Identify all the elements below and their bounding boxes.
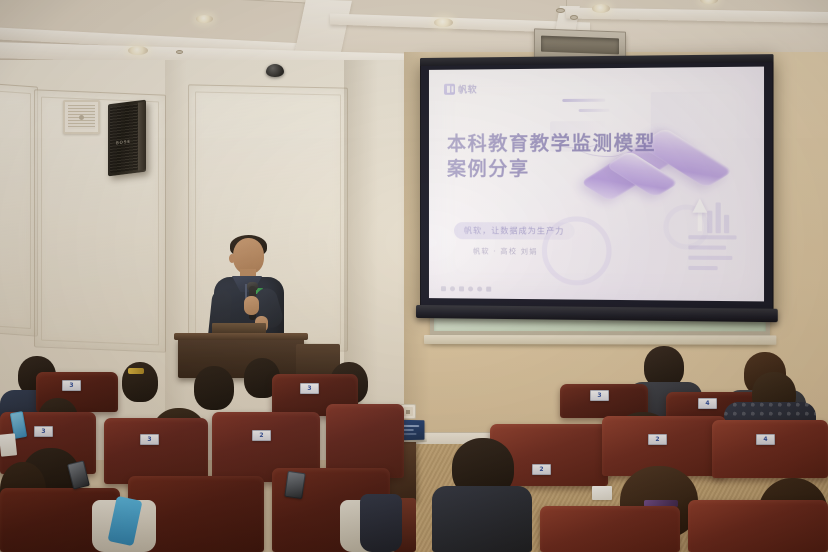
footer-icon — [441, 286, 446, 291]
seat[interactable] — [326, 404, 404, 478]
seat-number-plate: 2 — [532, 464, 551, 475]
seat[interactable] — [688, 500, 828, 552]
podium-top-surface — [174, 333, 308, 340]
lecture-hall-photo: BOSE — [0, 0, 828, 552]
smartphone[interactable] — [284, 471, 305, 499]
footer-icon — [459, 286, 464, 291]
presentation-slide: 帆软 本科教育教学监测模型 案例分享 帆软，让数据成为生产力 帆软 · 高校 刘… — [429, 67, 764, 302]
slide-brand-logo: 帆软 — [444, 82, 477, 95]
smoke-detector-icon — [176, 50, 183, 54]
downlight-icon — [196, 15, 213, 23]
footer-icon — [486, 287, 491, 292]
seat-number-plate: 3 — [140, 434, 159, 445]
seat-number-plate: 2 — [648, 434, 667, 445]
bose-wall-speaker: BOSE — [108, 100, 146, 177]
seat[interactable]: 3 — [104, 418, 208, 484]
wall-panel — [34, 89, 166, 353]
presenter-hand — [244, 296, 259, 315]
seat[interactable] — [540, 506, 680, 552]
podium — [178, 338, 304, 378]
seat-number-plate: 3 — [590, 390, 609, 401]
presenter-ear — [229, 254, 235, 263]
slide-tagline: 帆软，让数据成为生产力 — [454, 222, 575, 240]
seat[interactable]: 4 — [712, 420, 828, 478]
seat-number-plate: 4 — [756, 434, 775, 445]
hair-clip — [128, 368, 144, 374]
slide-footer-icons — [441, 286, 491, 291]
slide-title-line-2: 案例分享 — [447, 156, 666, 182]
audience-head — [194, 366, 234, 410]
smoke-detector-icon — [556, 8, 565, 13]
slide-presenter-line: 帆软 · 高校 刘娟 — [473, 246, 538, 256]
footer-icon — [477, 287, 482, 292]
downlight-icon — [592, 4, 610, 13]
footer-icon — [450, 286, 455, 291]
projection-screen: 帆软 本科教育教学监测模型 案例分享 帆软，让数据成为生产力 帆软 · 高校 刘… — [420, 54, 774, 314]
wall-panel — [0, 81, 38, 336]
chalk-tray — [424, 335, 776, 345]
ventilation-grille — [63, 100, 100, 134]
dome-security-camera-icon — [266, 64, 284, 77]
seat-number-plate: 2 — [252, 430, 271, 441]
downlight-icon — [434, 18, 453, 27]
fanruan-logo-icon — [444, 84, 455, 95]
sprinkler-icon — [570, 15, 578, 20]
paper-handout[interactable] — [592, 486, 612, 500]
downlight-icon — [128, 46, 148, 55]
slide-brand-name: 帆软 — [458, 82, 477, 95]
backpack-dark — [360, 494, 402, 552]
paper-handout[interactable] — [0, 433, 17, 457]
audience-body — [432, 486, 532, 552]
slide-artwork-3d-logo — [556, 85, 760, 296]
seat-number-plate: 3 — [34, 426, 53, 437]
seat-number-plate: 3 — [300, 383, 319, 394]
seat-number-plate: 4 — [698, 398, 717, 409]
footer-icon — [468, 286, 473, 291]
seat-number-plate: 3 — [62, 380, 81, 391]
slide-title: 本科教育教学监测模型 案例分享 — [447, 131, 666, 182]
slide-title-line-1: 本科教育教学监测模型 — [447, 131, 666, 157]
